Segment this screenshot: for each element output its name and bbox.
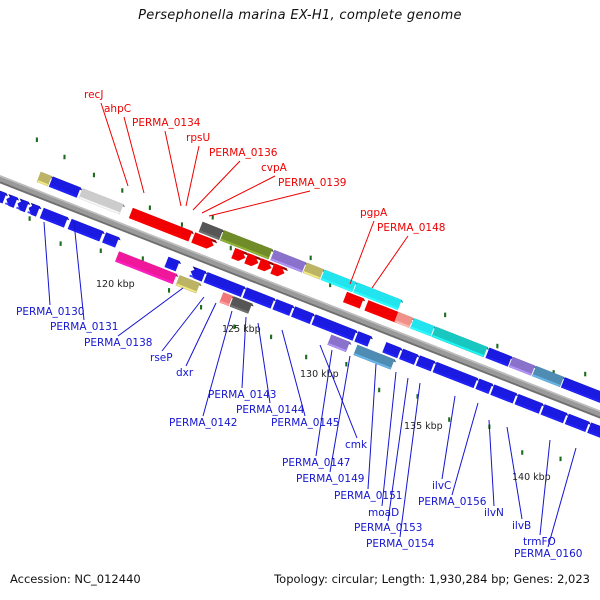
leader-line (162, 297, 204, 351)
gene-feature[interactable] (220, 230, 274, 259)
gene-feature[interactable] (164, 257, 181, 272)
feature-label[interactable]: PERMA_0160 (514, 549, 582, 560)
feature-label[interactable]: PERMA_0139 (278, 178, 346, 189)
gene-body[interactable] (303, 263, 324, 280)
leader-line (372, 236, 408, 288)
feature-label[interactable]: PERMA_0131 (50, 322, 118, 333)
feature-label[interactable]: ilvC (432, 481, 451, 492)
feature-label[interactable]: PERMA_0154 (366, 539, 434, 550)
feature-label[interactable]: PERMA_0136 (209, 148, 277, 159)
gene-feature[interactable] (416, 355, 436, 371)
backbone-group (0, 172, 600, 425)
gene-feature[interactable] (16, 198, 30, 212)
topology-text: Topology: circular; Length: 1,930,284 bp… (274, 572, 590, 586)
feature-label[interactable]: PERMA_0147 (282, 458, 350, 469)
gene-feature[interactable] (515, 394, 545, 414)
feature-label[interactable]: pgpA (360, 208, 387, 219)
feature-label[interactable]: ilvN (484, 508, 504, 519)
gene-feature[interactable] (475, 379, 494, 394)
gene-feature[interactable] (102, 232, 121, 247)
feature-label[interactable]: PERMA_0156 (418, 497, 486, 508)
leader-line (186, 146, 199, 206)
leader-line (452, 403, 478, 495)
gene-body[interactable] (0, 191, 6, 203)
leader-line (382, 372, 396, 506)
gene-body[interactable] (29, 204, 40, 216)
leader-line (548, 448, 576, 547)
feature-label[interactable]: ahpC (104, 104, 131, 115)
gene-feature[interactable] (27, 203, 41, 217)
leader-line (193, 161, 240, 210)
leader-line (350, 221, 374, 284)
gene-body[interactable] (272, 299, 293, 316)
feature-label[interactable]: ilvB (512, 521, 531, 532)
gene-feature[interactable] (291, 306, 315, 324)
scale-tick-label: 125 kbp (222, 325, 261, 335)
gene-body[interactable] (291, 306, 314, 324)
gene-feature[interactable] (321, 270, 358, 293)
status-bar: Accession: NC_012440 Topology: circular;… (0, 572, 600, 590)
gene-feature[interactable] (509, 357, 537, 376)
leader-line (186, 303, 216, 366)
leader-line (202, 176, 275, 213)
feature-label[interactable]: PERMA_0145 (271, 418, 339, 429)
gene-feature[interactable] (490, 385, 518, 404)
feature-label[interactable]: PERMA_0153 (354, 523, 422, 534)
feature-label[interactable]: cvpA (261, 163, 287, 174)
leader-line (316, 350, 332, 456)
scale-tick-label: 135 kbp (404, 422, 443, 432)
feature-label[interactable]: PERMA_0134 (132, 118, 200, 129)
feature-label[interactable]: PERMA_0143 (208, 390, 276, 401)
leader-line (489, 420, 494, 506)
gene-feature[interactable] (410, 318, 436, 336)
feature-label[interactable]: moaD (368, 508, 399, 519)
feature-label[interactable]: PERMA_0138 (84, 338, 152, 349)
gene-feature[interactable] (485, 348, 513, 367)
leader-line (540, 440, 550, 535)
gene-body[interactable] (416, 355, 435, 371)
gene-body[interactable] (191, 268, 206, 281)
gene-feature[interactable] (189, 266, 207, 281)
feature-label[interactable]: dxr (176, 368, 193, 379)
gene-feature[interactable] (272, 299, 294, 316)
gene-body[interactable] (410, 318, 434, 336)
feature-label[interactable]: PERMA_0142 (169, 418, 237, 429)
leader-line (165, 131, 181, 206)
feature-label[interactable]: PERMA_0144 (236, 405, 304, 416)
gene-feature[interactable] (399, 349, 419, 365)
scale-tick-label: 140 kbp (512, 473, 551, 483)
gene-feature[interactable] (587, 422, 600, 440)
gene-body[interactable] (17, 200, 28, 212)
gene-feature[interactable] (541, 404, 569, 423)
gene-feature[interactable] (354, 331, 373, 346)
gene-body[interactable] (565, 414, 589, 432)
scale-tick-label: 120 kbp (96, 280, 135, 290)
feature-label[interactable]: PERMA_0149 (296, 474, 364, 485)
leader-line (44, 222, 50, 305)
genome-viewer: Persephonella marina EX-H1, complete gen… (0, 0, 600, 600)
feature-label[interactable]: cmk (345, 440, 367, 451)
gene-body[interactable] (399, 349, 418, 365)
gene-body[interactable] (6, 196, 17, 208)
gene-feature[interactable] (532, 366, 565, 387)
leader-line (442, 396, 455, 479)
gene-feature[interactable] (0, 190, 8, 204)
feature-label[interactable]: trmFO (523, 537, 556, 548)
leader-line (368, 364, 376, 489)
scale-tick-label: 130 kbp (300, 370, 339, 380)
feature-label[interactable]: PERMA_0130 (16, 307, 84, 318)
feature-label[interactable]: rseP (150, 353, 173, 364)
leader-line (118, 288, 183, 336)
accession-text: Accession: NC_012440 (10, 572, 141, 586)
leader-line (101, 103, 128, 186)
leader-line (209, 191, 310, 216)
feature-label[interactable]: PERMA_0151 (334, 491, 402, 502)
feature-label[interactable]: recJ (84, 90, 103, 101)
leader-line (400, 383, 420, 537)
gene-feature[interactable] (49, 177, 82, 198)
gene-body[interactable] (220, 230, 272, 259)
gene-feature[interactable] (565, 414, 591, 432)
gene-feature[interactable] (5, 194, 19, 208)
feature-label[interactable]: PERMA_0148 (377, 223, 445, 234)
feature-label[interactable]: rpsU (186, 133, 210, 144)
